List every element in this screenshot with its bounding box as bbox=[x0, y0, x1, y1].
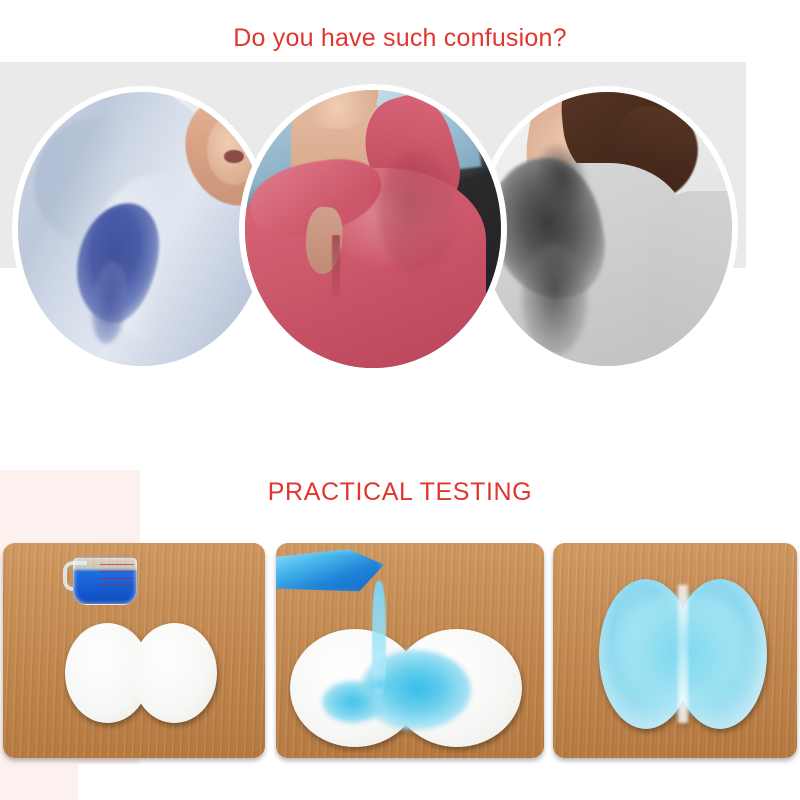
confusion-headline: Do you have such confusion? bbox=[0, 26, 800, 51]
practical-testing-section: PRACTICAL TESTING bbox=[0, 470, 800, 800]
panel-pouring-liquid-on-pad bbox=[276, 543, 544, 758]
beaker-body bbox=[73, 557, 137, 605]
blue-liquid-beaker bbox=[63, 557, 135, 609]
photo-content bbox=[18, 92, 266, 366]
beaker-measurement-marks bbox=[100, 564, 134, 592]
underarm-sweat-stain-lower bbox=[522, 245, 587, 355]
practical-testing-headline: PRACTICAL TESTING bbox=[0, 480, 800, 505]
photo-man-blue-shirt-sweat-stain bbox=[18, 92, 266, 366]
photo-content bbox=[482, 92, 732, 366]
panel-saturated-pad-result bbox=[553, 543, 797, 758]
panel-dry-pad-on-board bbox=[3, 543, 265, 758]
white-sweat-pad bbox=[65, 623, 217, 723]
confusion-section: Do you have such confusion? bbox=[0, 0, 800, 470]
white-panel-bottom bbox=[0, 764, 800, 800]
photo-content bbox=[245, 90, 501, 368]
photo-woman-gray-tee-sweat-stain bbox=[482, 92, 732, 366]
white-sweat-pad bbox=[290, 629, 522, 747]
pink-corner-accent bbox=[0, 764, 78, 800]
product-marketing-image: Do you have such confusion? bbox=[0, 0, 800, 800]
pad-center-seam bbox=[678, 585, 688, 723]
pad-lobe-right bbox=[132, 623, 217, 723]
underarm-sweat-stain bbox=[378, 151, 455, 273]
saturated-blue-sweat-pad bbox=[599, 579, 767, 729]
pouring-beaker bbox=[276, 549, 384, 595]
liquid-splash bbox=[364, 675, 398, 695]
mouth bbox=[224, 150, 244, 164]
gray-tshirt-sleeve bbox=[647, 191, 732, 366]
photo-woman-red-top-sweat-stain bbox=[245, 90, 501, 368]
button-placket bbox=[332, 235, 340, 296]
